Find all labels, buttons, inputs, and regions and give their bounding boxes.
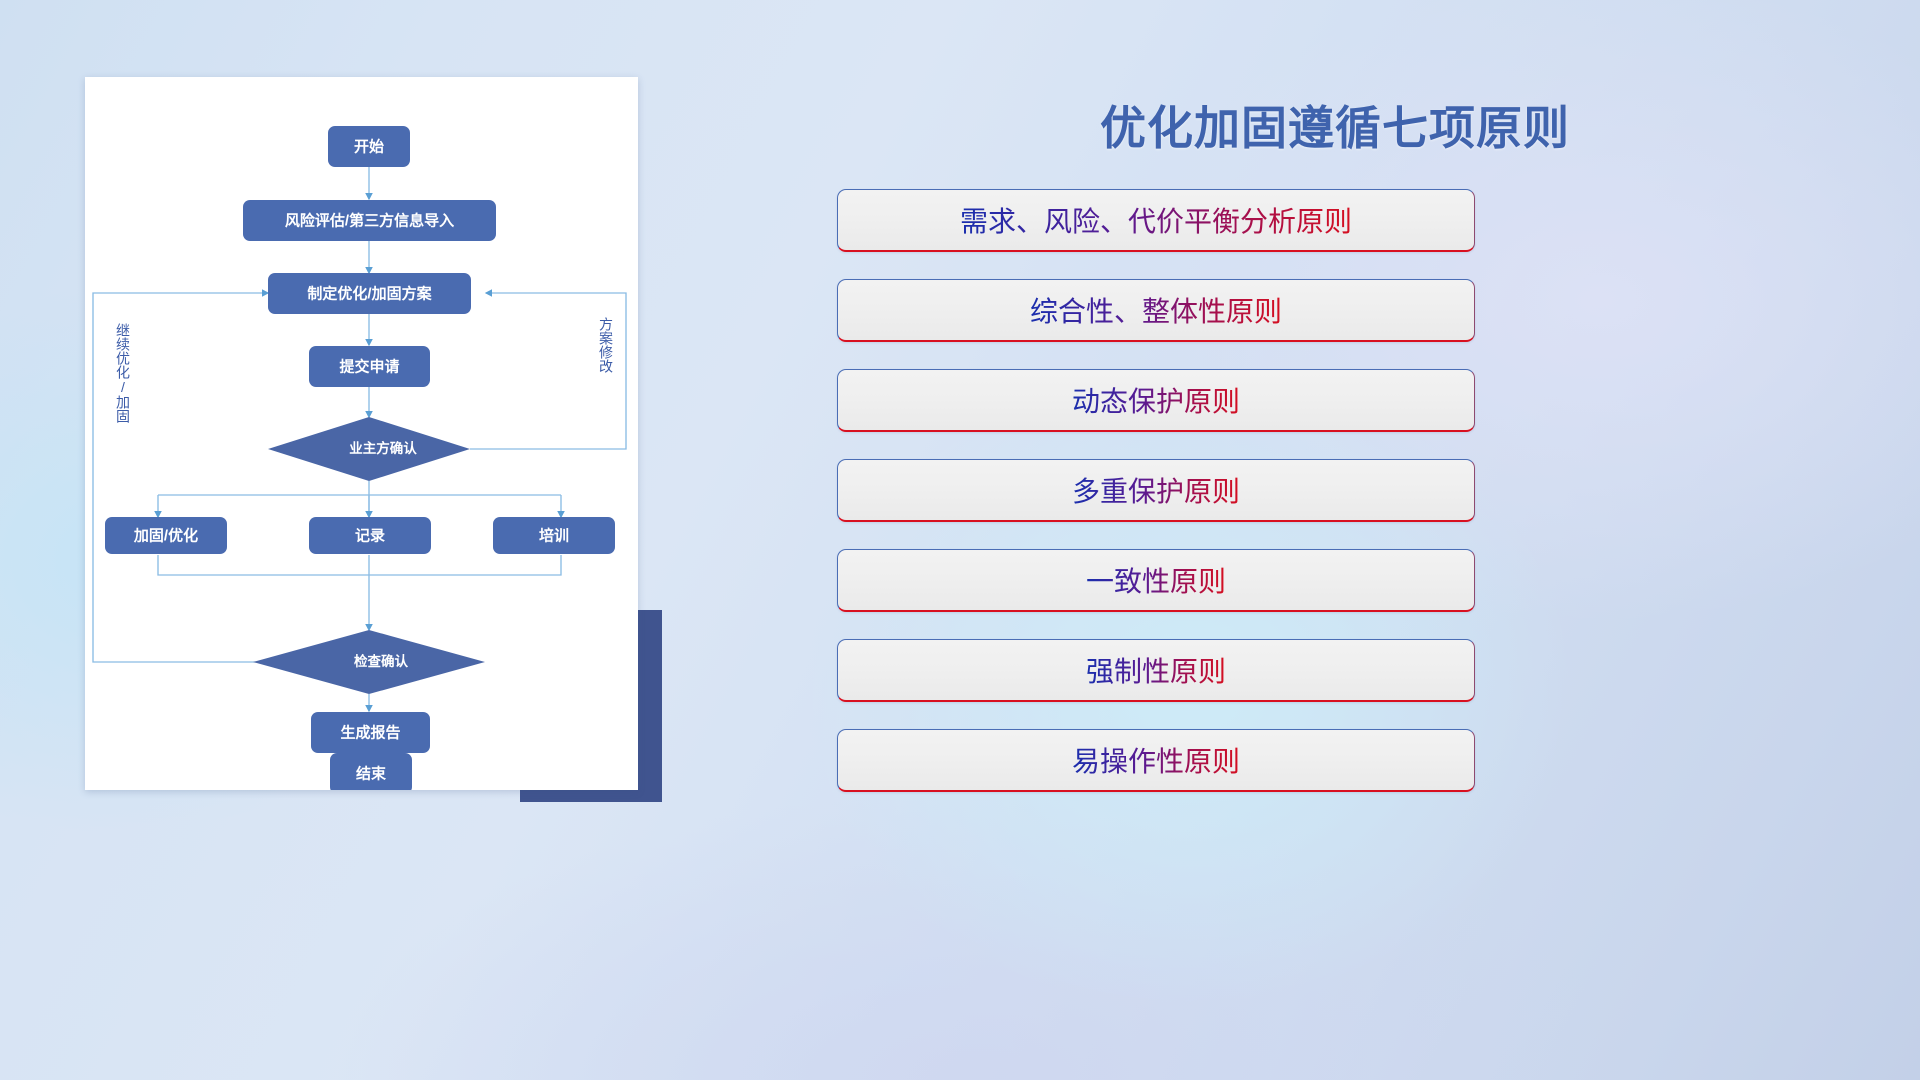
- flow-node-risk-assessment-label: 风险评估/第三方信息导入: [285, 211, 454, 229]
- principle-card-5-label: 一致性原则: [1086, 560, 1226, 600]
- principle-card-3-label: 动态保护原则: [1072, 380, 1240, 420]
- flow-node-submit-application-label: 提交申请: [339, 357, 399, 375]
- flow-node-generate-report[interactable]: 生成报告: [311, 712, 430, 753]
- page-title: 优化加固遵循七项原则: [835, 92, 1835, 158]
- flow-node-risk-assessment[interactable]: 风险评估/第三方信息导入: [243, 200, 496, 241]
- flow-node-submit-application[interactable]: 提交申请: [309, 346, 430, 387]
- principles-list: 需求、风险、代价平衡分析原则 综合性、整体性原则 动态保护原则 多重保护原则 一…: [837, 189, 1475, 819]
- flow-edge-label-continue-optimize: 继续优化/加固: [115, 323, 131, 423]
- flow-node-owner-confirm[interactable]: 业主方确认: [268, 417, 470, 481]
- flow-node-record[interactable]: 记录: [309, 517, 431, 554]
- flow-node-start[interactable]: 开始: [328, 126, 410, 167]
- principle-card-7-label: 易操作性原则: [1072, 740, 1240, 780]
- principle-card-4-label: 多重保护原则: [1072, 470, 1240, 510]
- principle-card-4[interactable]: 多重保护原则: [837, 459, 1475, 522]
- principle-card-7[interactable]: 易操作性原则: [837, 729, 1475, 792]
- principle-card-3[interactable]: 动态保护原则: [837, 369, 1475, 432]
- flow-node-end[interactable]: 结束: [330, 753, 412, 790]
- principle-card-2[interactable]: 综合性、整体性原则: [837, 279, 1475, 342]
- flow-node-training[interactable]: 培训: [493, 517, 615, 554]
- flow-node-reinforce-optimize-label: 加固/优化: [133, 526, 198, 544]
- flow-node-start-label: 开始: [354, 137, 384, 155]
- flow-node-make-plan[interactable]: 制定优化/加固方案: [268, 273, 471, 314]
- principle-card-6[interactable]: 强制性原则: [837, 639, 1475, 702]
- principle-card-1-label: 需求、风险、代价平衡分析原则: [960, 200, 1352, 240]
- flow-node-check-confirm[interactable]: 检查确认: [253, 630, 485, 694]
- flow-node-owner-confirm-label: 业主方确认: [349, 440, 417, 456]
- principle-card-5[interactable]: 一致性原则: [837, 549, 1475, 612]
- principles-panel: 优化加固遵循七项原则 需求、风险、代价平衡分析原则 综合性、整体性原则 动态保护…: [835, 72, 1835, 1032]
- flow-node-record-label: 记录: [355, 527, 385, 544]
- flow-node-end-label: 结束: [356, 764, 387, 782]
- flow-node-make-plan-label: 制定优化/加固方案: [307, 284, 432, 302]
- slide-root: 开始 风险评估/第三方信息导入 制定优化/加固方案 提交申请 业主方确认: [0, 0, 1920, 1080]
- principle-card-6-label: 强制性原则: [1086, 650, 1226, 690]
- principle-card-1[interactable]: 需求、风险、代价平衡分析原则: [837, 189, 1475, 252]
- flow-node-generate-report-label: 生成报告: [340, 723, 400, 741]
- flowchart-diagram: 开始 风险评估/第三方信息导入 制定优化/加固方案 提交申请 业主方确认: [85, 77, 638, 790]
- flow-node-reinforce-optimize[interactable]: 加固/优化: [105, 517, 227, 554]
- flow-node-training-label: 培训: [539, 526, 569, 544]
- flow-edge-label-plan-revision: 方案修改: [598, 317, 614, 373]
- flow-node-check-confirm-label: 检查确认: [354, 653, 408, 669]
- flowchart-nodes: 开始 风险评估/第三方信息导入 制定优化/加固方案 提交申请 业主方确认: [105, 126, 615, 790]
- principle-card-2-label: 综合性、整体性原则: [1030, 290, 1282, 330]
- flowchart-card: 开始 风险评估/第三方信息导入 制定优化/加固方案 提交申请 业主方确认: [85, 77, 638, 790]
